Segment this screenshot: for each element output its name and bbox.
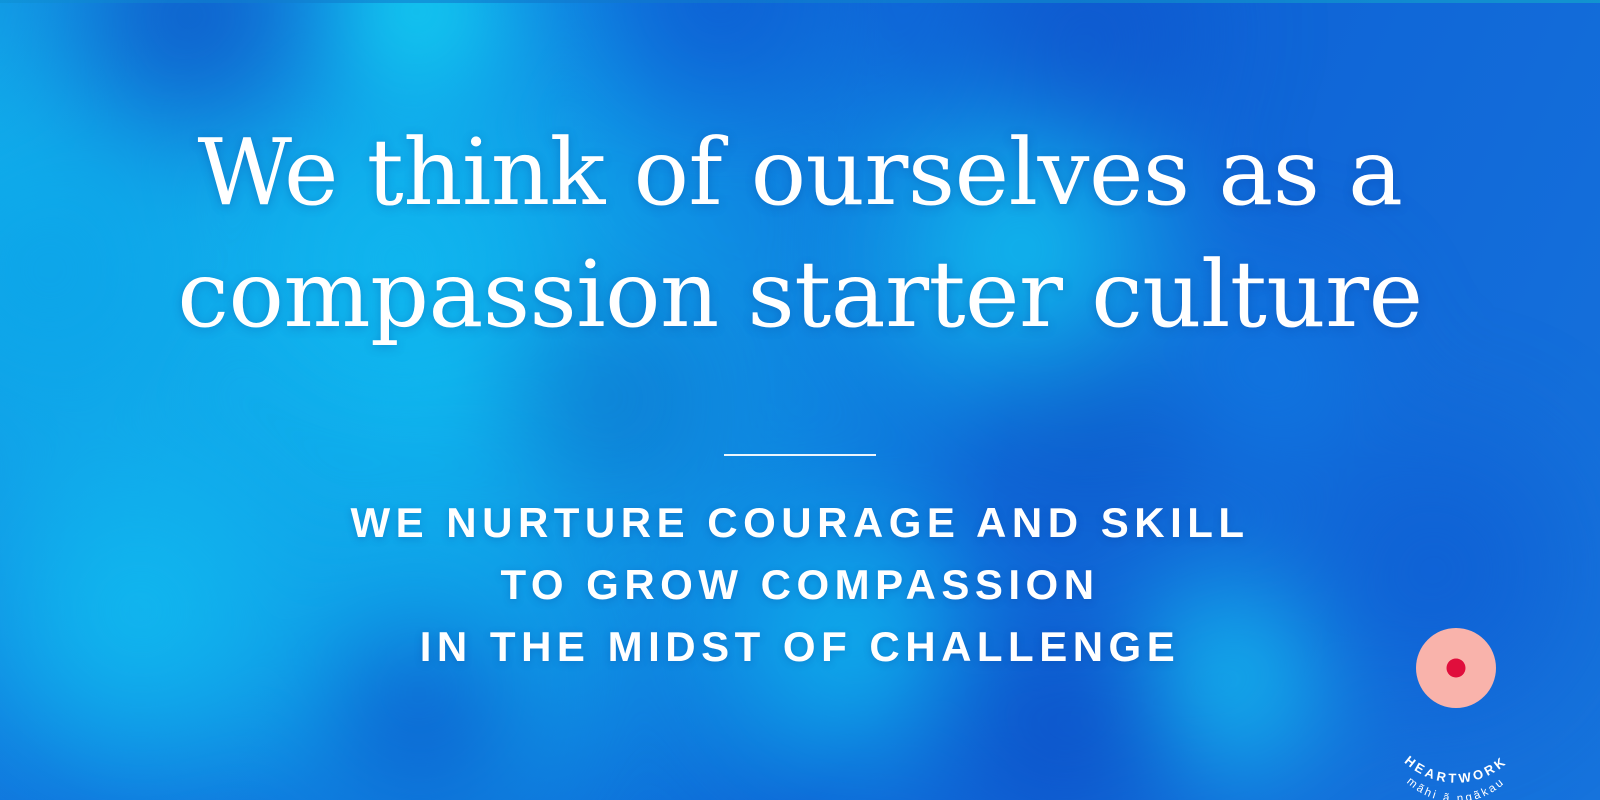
subheadline-line-2: TO GROW COMPASSION bbox=[350, 554, 1249, 616]
headline-line-2: compassion starter culture bbox=[175, 234, 1425, 356]
divider-rule bbox=[724, 454, 876, 456]
headline-line-1: We think of ourselves as a bbox=[175, 112, 1425, 234]
headline: We think of ourselves as a compassion st… bbox=[175, 112, 1425, 356]
subheadline: WE NURTURE COURAGE AND SKILL TO GROW COM… bbox=[350, 492, 1249, 678]
compassion-culture-banner: We think of ourselves as a compassion st… bbox=[0, 0, 1600, 800]
subheadline-line-3: IN THE MIDST OF CHALLENGE bbox=[350, 616, 1249, 678]
logo-red-dot bbox=[1447, 659, 1466, 678]
subheadline-line-1: WE NURTURE COURAGE AND SKILL bbox=[350, 492, 1249, 554]
heartwork-logo-svg: mãhi ã ngãkau HEARTWORK bbox=[1368, 612, 1544, 788]
heartwork-logo[interactable]: mãhi ã ngãkau HEARTWORK bbox=[1368, 612, 1544, 788]
banner-content: We think of ourselves as a compassion st… bbox=[0, 0, 1600, 800]
